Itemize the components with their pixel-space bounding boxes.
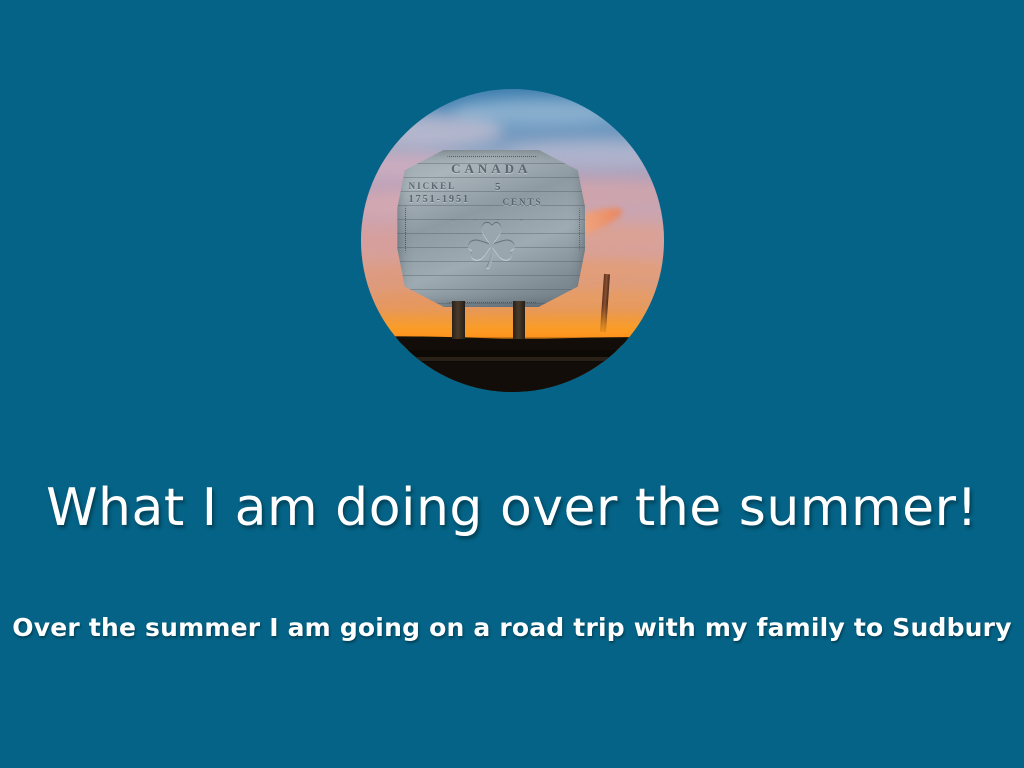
maple-leaf-icon: ☘	[463, 216, 519, 278]
big-nickel-sudbury-photo: CANADA NICKEL 1751-1951 5 CENTS ▫ ▫ ▫ ▫ …	[361, 89, 664, 392]
guard-rail-highlight	[361, 357, 664, 361]
coin-metal-text: NICKEL	[409, 181, 495, 191]
slide-title: What I am doing over the summer!	[0, 478, 1024, 538]
slide-subtitle: Over the summer I am going on a road tri…	[0, 613, 1024, 642]
coin-value-text: 5	[495, 181, 578, 193]
coin-denomination-text: CENTS	[503, 197, 582, 207]
photo-inner: CANADA NICKEL 1751-1951 5 CENTS ▫ ▫ ▫ ▫ …	[361, 89, 664, 392]
big-nickel-coin: CANADA NICKEL 1751-1951 5 CENTS ▫ ▫ ▫ ▫ …	[397, 150, 585, 308]
coin-years-text: 1751-1951	[409, 194, 507, 205]
slide: CANADA NICKEL 1751-1951 5 CENTS ▫ ▫ ▫ ▫ …	[0, 0, 1024, 768]
coin-country-text: CANADA	[397, 161, 585, 177]
foreground-silhouette	[361, 339, 664, 392]
